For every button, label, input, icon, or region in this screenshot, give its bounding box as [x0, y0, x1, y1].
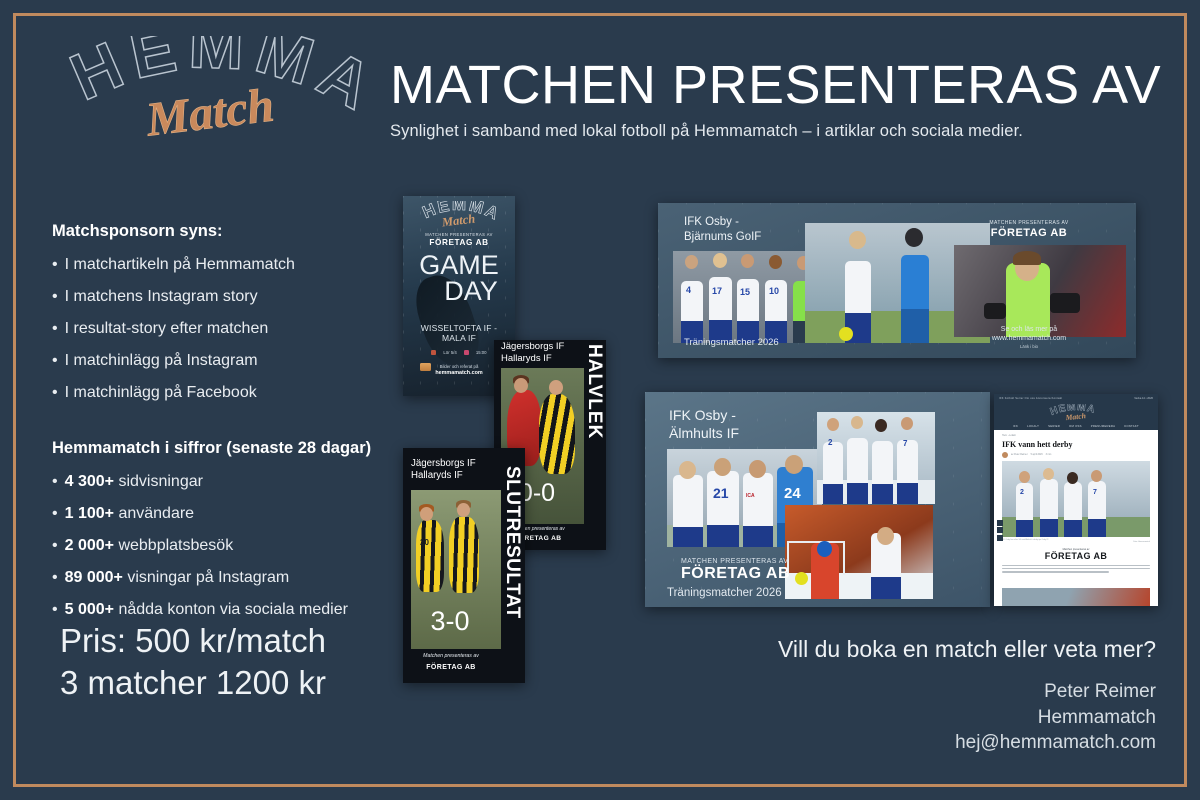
sample-banner-bjarnum: IFK Osby - Bjärnums GoIF 4 17 15 10	[658, 203, 1136, 358]
calendar-icon	[431, 350, 436, 355]
banner-title: IFK Osby - Bjärnums GoIF	[684, 215, 761, 246]
title-line-2: Bjärnums GoIF	[684, 230, 761, 245]
website-nav[interactable]: IFK LOKALT SERIER OM OSS PRENUMERERA KON…	[994, 421, 1158, 430]
instagram-share-icon[interactable]	[997, 527, 1003, 533]
sponsor-name: FÖRETAG AB	[944, 227, 1114, 239]
player-yellow	[539, 394, 575, 474]
byline-readtime: 3 min	[1046, 454, 1052, 456]
banner-see-more: Se och läs mer på www.hemmamatch.com Län…	[944, 325, 1114, 350]
title-line-2: Älmhults IF	[669, 424, 739, 442]
player-red-head	[514, 378, 528, 393]
gameday-line-2: DAY	[427, 279, 515, 305]
breadcrumb[interactable]: Hem › Lokalt	[1002, 434, 1150, 437]
player-yellow-head	[549, 380, 563, 395]
banner-title: IFK Osby - Älmhults IF	[669, 406, 739, 442]
halftime-teams: Jägersborgs IF Hallaryds IF	[501, 341, 564, 364]
byline-author: av Peter Reimer	[1011, 454, 1028, 456]
team-away: Hallaryds IF	[411, 470, 476, 482]
fixture-line-1: WISSELTOFTA IF -	[403, 323, 515, 333]
story-logo-svg: HEMMA Match	[418, 201, 500, 229]
credit-label: Länk i bio	[944, 344, 1114, 350]
title-line-1: IFK Osby -	[684, 215, 761, 230]
avatar	[1002, 452, 1008, 458]
match-time: 15:00	[476, 350, 487, 355]
match-date: Lör 5/4	[443, 350, 456, 355]
banner-footer: Träningsmatcher 2026	[684, 337, 779, 348]
sponsor-name: FÖRETAG AB	[403, 238, 515, 247]
player-one-head	[420, 507, 433, 521]
player-two	[449, 517, 479, 593]
nav-item-prenumerera[interactable]: PRENUMERERA	[1091, 424, 1116, 428]
presented-by-label: MATCHEN PRESENTERAS AV	[681, 558, 788, 565]
nav-item-lokalt[interactable]: LOKALT	[1027, 424, 1039, 428]
gameday-headline: GAME DAY	[403, 253, 515, 304]
topbar-date: Vecka 14 • 2026	[1134, 397, 1153, 400]
sample-fulltime-story: 20 Jägersborgs IF Hallaryds IF SLUTRESUL…	[403, 448, 525, 683]
nav-item-ifk[interactable]: IFK	[1013, 424, 1018, 428]
presented-by-label: MATCHEN PRESENTERAS AV	[944, 220, 1114, 226]
sponsor-name: FÖRETAG AB	[409, 664, 493, 671]
photo-shot-on-goal	[785, 505, 933, 599]
presented-by-label: Matchen presenteras av	[409, 653, 493, 659]
fulltime-teams: Jägersborgs IF Hallaryds IF	[411, 458, 476, 482]
banner-footer: Träningsmatcher 2026	[667, 587, 782, 599]
stage-label: SLUTRESULTAT	[501, 466, 523, 619]
nav-item-kontakt[interactable]: KONTAKT	[1124, 424, 1139, 428]
website-logo[interactable]: HEMMA Match	[994, 403, 1158, 421]
clock-icon	[464, 350, 469, 355]
article-body-text	[1002, 565, 1150, 573]
website-body: Hem › Lokalt IFK vann hett derby av Pete…	[994, 430, 1158, 606]
website-logo-svg: HEMMA Match	[1045, 404, 1107, 421]
presented-by-label: MATCHEN PRESENTERAS AV	[403, 232, 515, 237]
team-away: Hallaryds IF	[501, 353, 564, 365]
share-buttons[interactable]	[997, 520, 1003, 542]
facebook-share-icon[interactable]	[997, 520, 1003, 526]
sponsor-name: FÖRETAG AB	[1002, 551, 1150, 561]
see-more-label: Se och läs mer på	[944, 325, 1114, 335]
article-second-image	[1002, 588, 1150, 606]
article-hero-image: 2 7	[1002, 461, 1150, 537]
sponsor-name: FÖRETAG AB	[681, 565, 790, 583]
nav-item-serier[interactable]: SERIER	[1048, 424, 1060, 428]
stage-label: HALVLEK	[583, 344, 605, 439]
site-url: www.hemmamatch.com	[944, 334, 1114, 344]
sample-collage: HEMMA Match MATCHEN PRESENTERAS AV FÖRET…	[0, 0, 1200, 800]
website-topbar: IFK Fotboll Serier Om oss Annonsera Kont…	[994, 394, 1158, 403]
image-credit: Foto: Hemmamatch	[1002, 541, 1150, 543]
photo-goal-celebration: 2 7	[817, 412, 935, 504]
jersey-number: 20	[420, 538, 429, 547]
player-two-head	[457, 503, 470, 517]
team-home: Jägersborgs IF	[501, 341, 564, 353]
byline-date: 5 april 2026	[1031, 454, 1043, 456]
score-value: 3-0	[403, 606, 497, 637]
player-one	[416, 520, 444, 592]
team-home: Jägersborgs IF	[411, 458, 476, 470]
title-line-1: IFK Osby -	[669, 406, 739, 424]
sample-website-article: IFK Fotboll Serier Om oss Annonsera Kont…	[994, 394, 1158, 606]
article-title: IFK vann hett derby	[1002, 440, 1150, 449]
story-logo: HEMMA Match	[403, 201, 515, 234]
website-sponsor-block: Matchen presenteras av FÖRETAG AB	[1002, 548, 1150, 561]
topbar-links[interactable]: IFK Fotboll Serier Om oss Annonsera Kont…	[999, 397, 1062, 400]
nav-item-om-oss[interactable]: OM OSS	[1069, 424, 1082, 428]
article-byline: av Peter Reimer 5 april 2026 3 min	[1002, 452, 1150, 458]
sample-banner-almhult: IFK Osby - Älmhults IF 21 ICA 24	[645, 392, 990, 607]
link-share-icon[interactable]	[997, 535, 1003, 541]
photo-goalkeeper	[954, 245, 1126, 337]
